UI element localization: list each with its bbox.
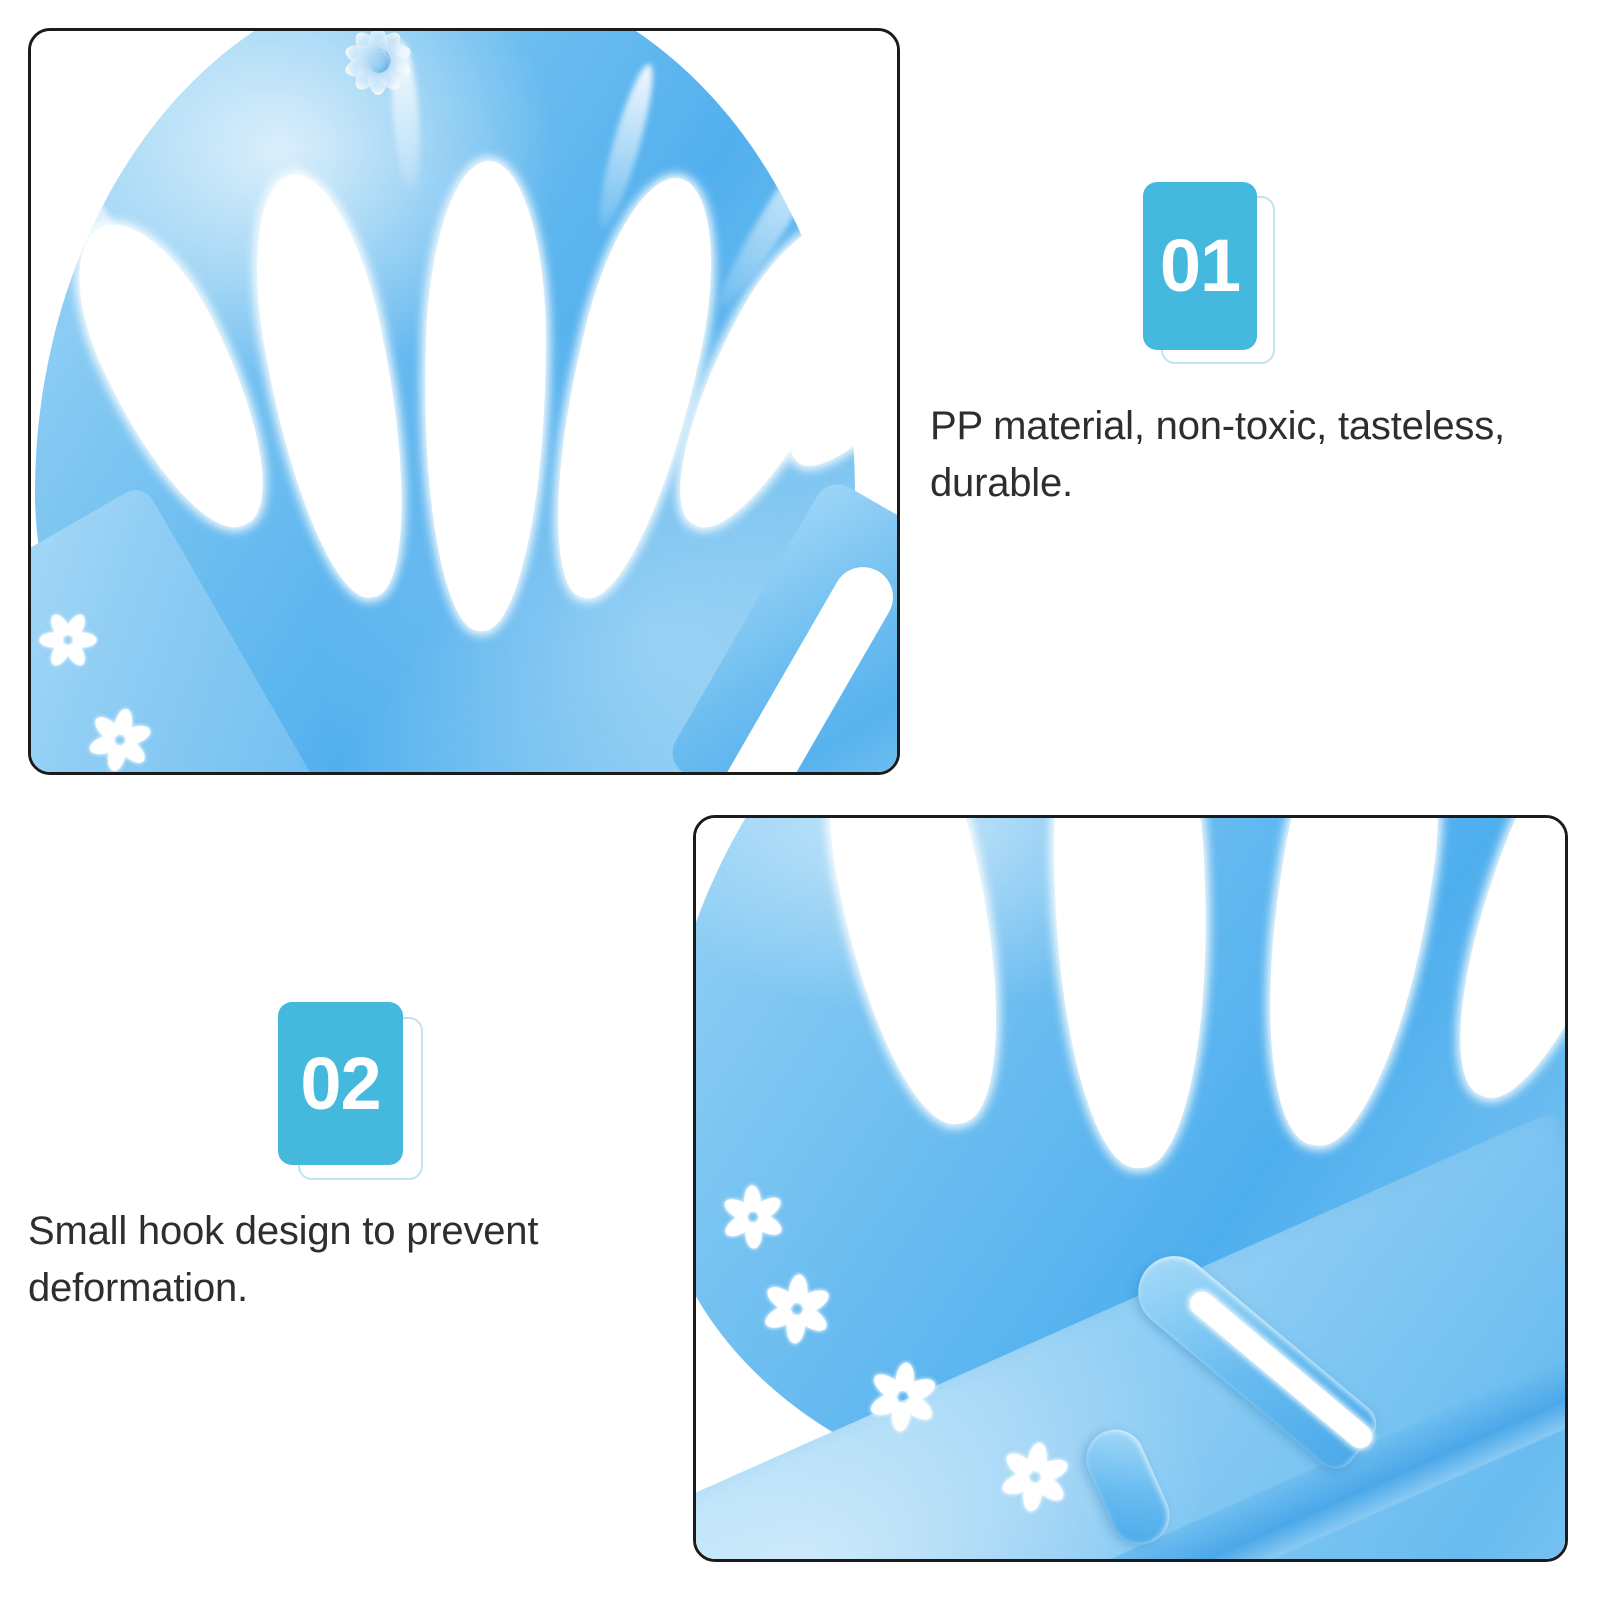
flower-perforation-icon	[983, 1425, 1087, 1529]
flower-perforation-icon	[850, 1344, 956, 1450]
daisy-rosette-icon	[303, 31, 453, 127]
product-photo-dome	[31, 31, 897, 772]
product-photo-panel-01	[28, 28, 900, 775]
badge-number-01: 01	[1143, 182, 1257, 350]
flower-perforation-icon	[75, 695, 165, 772]
feature-caption-01: PP material, non-toxic, tasteless, durab…	[930, 398, 1560, 512]
badge-number-02: 02	[278, 1002, 403, 1165]
product-photo-panel-02	[693, 815, 1568, 1562]
product-photo-base-corner	[696, 818, 1565, 1559]
base-illustration	[696, 818, 1565, 1559]
feature-caption-02: Small hook design to prevent deformation…	[28, 1203, 628, 1317]
feature-badge-02: 02	[278, 1002, 426, 1182]
feature-badge-01: 01	[1143, 182, 1279, 368]
